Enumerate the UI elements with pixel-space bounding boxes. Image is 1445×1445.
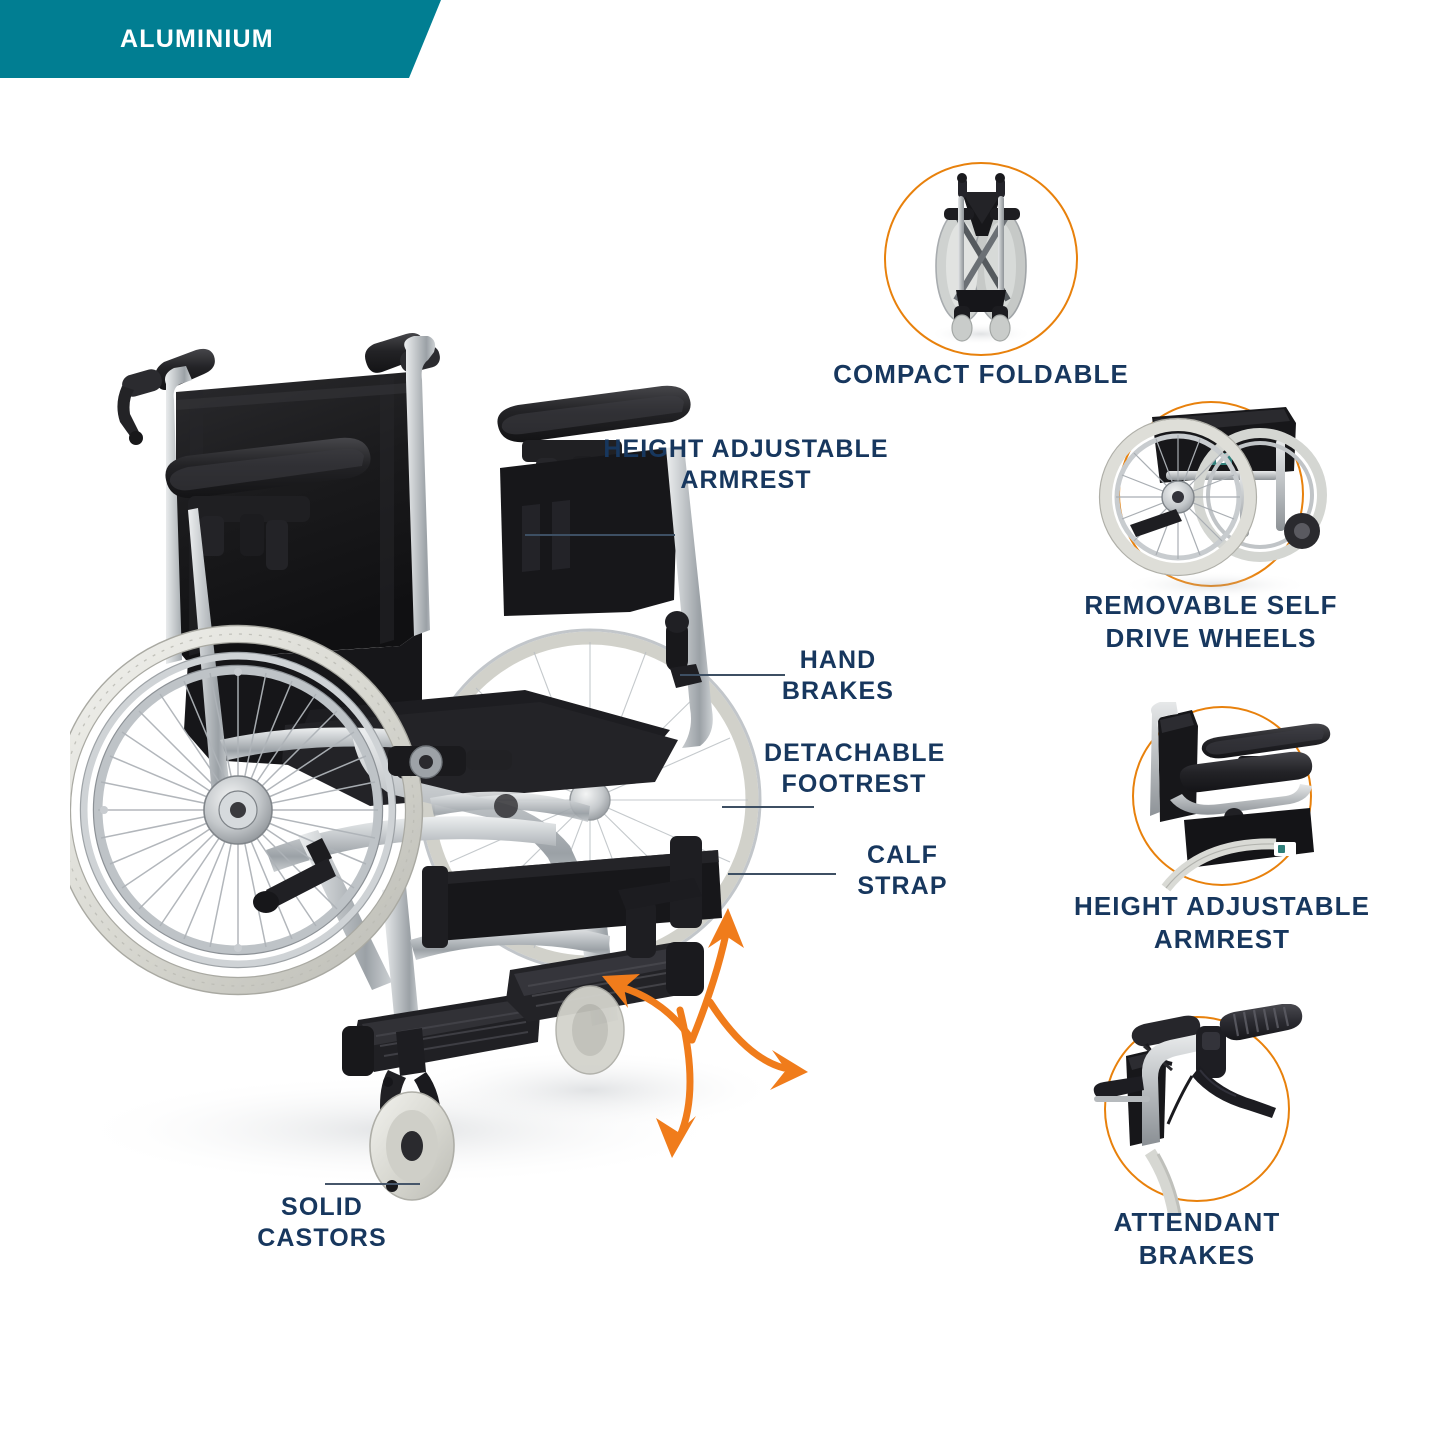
motion-arrow-group [540, 890, 880, 1190]
callout-label: SOLID CASTORS [222, 1192, 422, 1254]
armrest-closeup-photo [1114, 692, 1338, 904]
arrowhead-down [656, 1116, 696, 1158]
callout-calf-strap: CALF STRAP [820, 840, 985, 902]
leader-line-height-adjustable-armrest [525, 534, 675, 536]
feature-label: ATTENDANT BRAKES [977, 1206, 1417, 1272]
feature-label: REMOVABLE SELF DRIVE WHEELS [991, 589, 1431, 655]
feature-attendant-brakes: ATTENDANT BRAKES [1104, 1016, 1290, 1202]
arrowhead-right [770, 1050, 808, 1090]
leader-line-hand-brakes [680, 674, 785, 676]
leader-line-calf-strap [728, 873, 836, 875]
callout-label: HAND BRAKES [743, 645, 933, 707]
leader-line-solid-castors [325, 1183, 420, 1185]
footrest-swing-arrows [540, 890, 880, 1190]
callout-label: HEIGHT ADJUSTABLE ARMREST [596, 434, 896, 496]
feature-label: HEIGHT ADJUSTABLE ARMREST [1002, 890, 1442, 956]
callout-height-adjustable-armrest: HEIGHT ADJUSTABLE ARMREST [596, 434, 896, 496]
banner-title: ALUMINIUM [120, 20, 274, 58]
callout-detachable-footrest: DETACHABLE FOOTREST [764, 738, 944, 800]
feature-compact-foldable: COMPACT FOLDABLE [884, 162, 1078, 356]
callout-label: CALF STRAP [820, 840, 985, 902]
callout-hand-brakes: HAND BRAKES [743, 645, 933, 707]
callout-solid-castors: SOLID CASTORS [222, 1192, 422, 1254]
feature-height-adjustable-armrest: HEIGHT ADJUSTABLE ARMREST [1132, 706, 1312, 886]
attendant-brake-lever-photo [1088, 1004, 1316, 1220]
callout-label: DETACHABLE FOOTREST [764, 738, 944, 800]
leader-line-detachable-footrest [722, 806, 814, 808]
header-banner: ALUMINIUM [0, 0, 460, 78]
side-wheel-photo [1090, 379, 1340, 609]
folded-wheelchair-photo [884, 162, 1078, 356]
feature-removable-self-drive-wheels: REMOVABLE SELF DRIVE WHEELS [1118, 401, 1304, 587]
